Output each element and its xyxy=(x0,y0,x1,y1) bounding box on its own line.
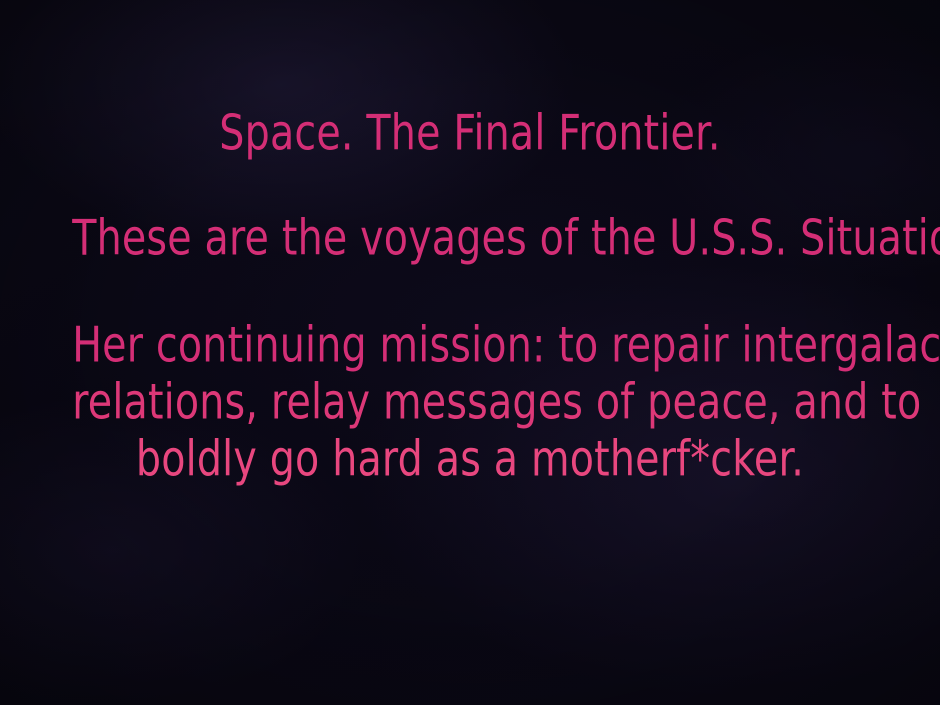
quote-card: Space. The Final Frontier. These are the… xyxy=(0,0,940,705)
quote-line-opening-1: Space. The Final Frontier. xyxy=(72,105,868,163)
quote-text-block: Space. The Final Frontier. These are the… xyxy=(0,108,940,488)
quote-paragraph-mission: Her continuing mission: to repair interg… xyxy=(28,317,912,488)
quote-line-mission-3: boldly go hard as a motherf*cker. xyxy=(72,428,868,492)
quote-line-voyages-1: These are the voyages of the U.S.S. Situ… xyxy=(72,210,868,268)
quote-paragraph-voyages: These are the voyages of the U.S.S. Situ… xyxy=(28,213,912,265)
quote-line-mission-2: relations, relay messages of peace, and … xyxy=(72,371,868,435)
quote-paragraph-opening: Space. The Final Frontier. xyxy=(28,108,912,160)
quote-line-mission-1: Her continuing mission: to repair interg… xyxy=(72,314,868,378)
